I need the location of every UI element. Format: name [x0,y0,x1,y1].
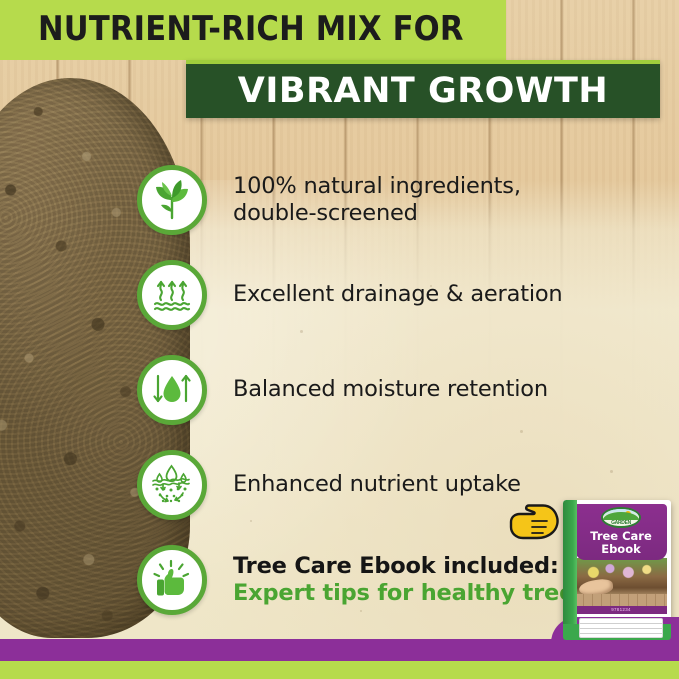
feature-text-line-2: Expert tips for healthy trees [233,580,587,607]
ebook-photo-deck [575,594,667,606]
feature-item: 100% natural ingredients, double-screene… [137,152,607,247]
ebook-barcode-bar: 9781234 [575,606,667,614]
feature-text: Tree Care Ebook included: Expert tips fo… [233,553,587,606]
headline-line-2: VIBRANT GROWTH [238,71,608,111]
feature-text-line-1: Tree Care Ebook included: [233,553,587,580]
feature-text: Excellent drainage & aeration [233,281,563,308]
aeration-icon [150,273,194,317]
logo-wordmark: GARDEN [603,520,639,526]
ebook-title-line-2: Ebook [575,542,667,555]
brand-logo-badge: GARDEN [601,507,641,528]
feature-icon-badge [137,545,207,615]
feature-text-line-1: 100% natural ingredients, [233,173,521,200]
feature-text-line-1: Balanced moisture retention [233,376,548,403]
feature-text-line-2: double-screened [233,200,521,227]
feature-text-line-1: Enhanced nutrient uptake [233,471,521,498]
paper-speck [610,470,613,473]
thumbs-up-icon [150,558,194,602]
headline-band-secondary: VIBRANT GROWTH [186,60,660,118]
feature-text: 100% natural ingredients, double-screene… [233,173,521,226]
footer-lime-band [0,661,679,679]
feature-text: Enhanced nutrient uptake [233,471,521,498]
nutrient-uptake-icon [149,462,195,508]
feature-text-line-1: Excellent drainage & aeration [233,281,563,308]
moisture-balance-icon [150,368,194,412]
feature-item: Excellent drainage & aeration [137,247,607,342]
leaf-icon [150,178,194,222]
headline-line-1: NUTRIENT-RICH MIX FOR [38,9,464,49]
feature-icon-badge [137,450,207,520]
ebook-title-line-1: Tree Care [575,529,667,542]
feature-icon-badge [137,165,207,235]
ebook-spine [563,500,577,640]
headline-band-primary: NUTRIENT-RICH MIX FOR [0,0,506,60]
feature-list: 100% natural ingredients, double-screene… [137,152,607,627]
feature-icon-badge [137,260,207,330]
pointing-hand-cursor [505,500,563,550]
ebook-lined-area [579,618,663,638]
product-feature-poster: NUTRIENT-RICH MIX FOR VIBRANT GROWTH [0,0,679,679]
ebook-cover-header: GARDEN Tree Care Ebook [575,504,667,560]
ebook-barcode-label: 9781234 [575,606,667,614]
footer-purple-band [0,639,679,661]
ebook-thumbnail: GARDEN Tree Care Ebook 9781234 [563,500,671,640]
feature-icon-badge [137,355,207,425]
ebook-cover-photo [575,558,667,606]
feature-text: Balanced moisture retention [233,376,548,403]
feature-item: Balanced moisture retention [137,342,607,437]
